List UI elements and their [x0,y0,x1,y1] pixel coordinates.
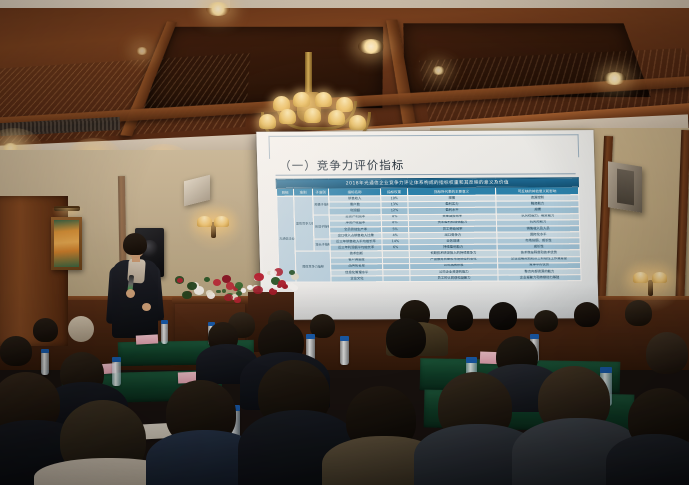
name-card [136,334,158,344]
slide-section-heading: （一）竞争力评价指标 [279,157,404,174]
painting-canvas [54,220,79,267]
audience-head [33,318,58,342]
projection-screen: （一）竞争力评价指标 2018年光通信企业竞争力评让体系构成的指标权重和其反映的… [256,130,598,320]
flower-blossom [206,290,213,296]
audience-head [646,332,688,374]
column-header: 指标权重 [380,188,407,196]
audience-head [574,302,600,327]
sub-criterion-cell: 增长子指标 [314,239,330,251]
chandelier-lamp [315,92,332,107]
floral-arrangement-secondary [244,268,306,296]
bottle-cap [161,320,168,324]
water-bottle [41,352,49,375]
audience-head [489,302,517,330]
bottle-cap [530,334,539,339]
slide-data-table: 2018年光通信企业竞争力评让体系构成的指标权重和其反映的意义及价值目标准则子准… [276,177,582,283]
criterion-cell: 显性竞争力指标（市场竞争绩效）权重为70% [294,196,315,251]
wall-sconce [631,266,671,304]
flower-blossom [213,279,222,286]
water-bottle [161,323,168,344]
chandelier-lamp [259,114,276,129]
chandelier-lamp [328,110,345,125]
recessed-downlight [603,72,626,85]
indicator-name: 企业文化 [331,276,383,282]
wall-sconce [197,210,231,240]
bottle-cap [306,334,315,339]
flower-blossom [216,290,220,294]
recessed-downlight [206,2,230,16]
floral-arrangement [171,274,251,304]
bottle-cap [466,357,477,363]
flower-blossom [187,282,197,290]
chandelier-lamp [349,115,366,130]
flower-blossom [247,285,254,291]
bottle-cap [41,349,49,353]
audience-shoulders-foreground [606,434,689,485]
flower-blossom [182,291,192,299]
audience-head [534,310,558,332]
indicator-other: 企业凝聚力和持续动力基础 [498,275,581,282]
column-header: 准则 [293,189,312,197]
audience-head [386,318,426,358]
recessed-downlight [432,66,445,75]
water-bottle [112,361,121,386]
column-header: 目标 [276,189,293,197]
chandelier-lamp [279,109,296,124]
flower-blossom [222,289,227,293]
framed-painting [51,217,82,270]
presenter-hand [142,303,151,311]
sconce-lamp [652,272,667,283]
conference-room-photo: （一）竞争力评价指标 2018年光通信企业竞争力评让体系构成的指标权重和其反映的… [0,0,689,485]
bottle-cap [112,357,121,362]
bottle-cap [340,336,349,341]
presenter-hand [126,289,135,298]
audience-head [447,305,473,331]
slide-decorative-frame [268,134,579,159]
sub-criterion-cell: 效益子指标 [313,215,330,240]
column-header: 子准则 [312,188,328,196]
flower-blossom [278,280,286,287]
sub-criterion-cell: 规模子指标 [313,196,330,215]
indicator-weight [383,276,410,282]
flower-blossom [224,294,233,301]
audience-head [625,300,652,326]
recessed-downlight [136,47,148,55]
audience-head [0,336,32,366]
water-bottle [340,340,349,365]
flower-blossom [234,297,240,302]
audience-head [68,316,94,342]
indicator-meaning: 员工的认同感和凝聚力 [410,275,498,282]
sconce-lamp [214,216,229,227]
flower-blossom [253,286,262,294]
bottle-cap [600,367,612,373]
slide-heading-underline [276,173,576,176]
chandelier-lamp [304,108,321,123]
flower-blossom [270,270,277,276]
speaker-grille [617,169,634,206]
slide-surface: （一）竞争力评价指标 2018年光通信企业竞争力评让体系构成的指标权重和其反映的… [256,130,598,320]
presenter-hair [123,233,147,255]
chandelier-lamp [293,92,310,107]
sconce-lamp [197,216,212,227]
flower-blossom [204,277,211,283]
flower-blossom [254,273,263,281]
sconce-lamp [633,272,648,283]
